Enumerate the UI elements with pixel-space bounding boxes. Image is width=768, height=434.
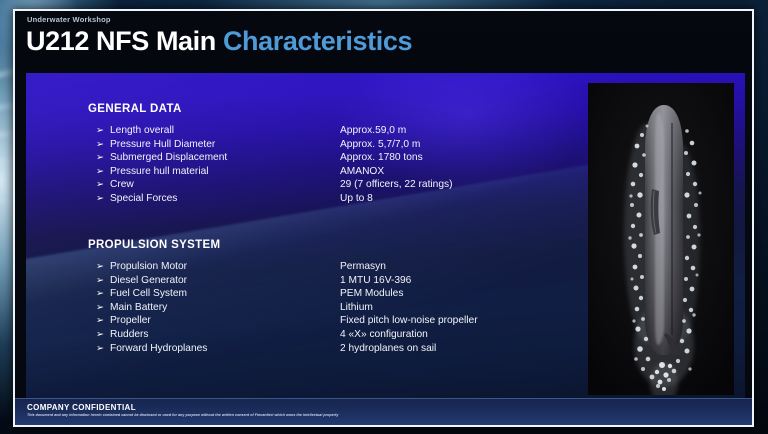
spec-value: Lithium bbox=[340, 301, 478, 315]
table-row: ➢ Pressure Hull Diameter Approx. 5,7/7,0… bbox=[88, 138, 453, 152]
spec-value: AMANOX bbox=[340, 165, 453, 179]
table-row: ➢ Diesel Generator 1 MTU 16V-396 bbox=[88, 274, 478, 288]
spec-label: Crew bbox=[110, 178, 340, 192]
table-row: ➢ Main Battery Lithium bbox=[88, 301, 478, 315]
table-row: ➢ Rudders 4 «X» configuration bbox=[88, 328, 478, 342]
spec-value: 29 (7 officers, 22 ratings) bbox=[340, 178, 453, 192]
spec-label: Propeller bbox=[110, 314, 340, 328]
spec-value: Approx. 1780 tons bbox=[340, 151, 453, 165]
spec-row-group: ➢ Propulsion Motor Permasyn ➢ Diesel Gen… bbox=[88, 260, 478, 355]
table-row: ➢ Length overall Approx.59,0 m bbox=[88, 124, 453, 138]
arrow-bullet-icon: ➢ bbox=[88, 138, 110, 152]
spec-label: Pressure Hull Diameter bbox=[110, 138, 340, 152]
table-row: ➢ Submerged Displacement Approx. 1780 to… bbox=[88, 151, 453, 165]
spec-label: Pressure hull material bbox=[110, 165, 340, 179]
arrow-bullet-icon: ➢ bbox=[88, 314, 110, 328]
section-heading: PROPULSION SYSTEM bbox=[88, 239, 478, 251]
title-accent-text: Characteristics bbox=[223, 26, 412, 56]
spec-label: Diesel Generator bbox=[110, 274, 340, 288]
section-general-data: GENERAL DATA ➢ Length overall Approx.59,… bbox=[88, 103, 453, 206]
title-main-text: U212 NFS Main bbox=[26, 26, 223, 56]
slide-footer: COMPANY CONFIDENTIAL This document and a… bbox=[15, 398, 752, 425]
arrow-bullet-icon: ➢ bbox=[88, 274, 110, 288]
spec-label: Main Battery bbox=[110, 301, 340, 315]
arrow-bullet-icon: ➢ bbox=[88, 124, 110, 138]
section-propulsion-system: PROPULSION SYSTEM ➢ Propulsion Motor Per… bbox=[88, 239, 478, 355]
arrow-bullet-icon: ➢ bbox=[88, 151, 110, 165]
spec-label: Forward Hydroplanes bbox=[110, 342, 340, 356]
spec-value: Up to 8 bbox=[340, 192, 453, 206]
spec-value: 1 MTU 16V-396 bbox=[340, 274, 478, 288]
arrow-bullet-icon: ➢ bbox=[88, 287, 110, 301]
table-row: ➢ Forward Hydroplanes 2 hydroplanes on s… bbox=[88, 342, 478, 356]
spec-label: Rudders bbox=[110, 328, 340, 342]
spec-value: 2 hydroplanes on sail bbox=[340, 342, 478, 356]
table-row: ➢ Fuel Cell System PEM Modules bbox=[88, 287, 478, 301]
spec-label: Submerged Displacement bbox=[110, 151, 340, 165]
spec-value: Approx. 5,7/7,0 m bbox=[340, 138, 453, 152]
arrow-bullet-icon: ➢ bbox=[88, 301, 110, 315]
table-row: ➢ Pressure hull material AMANOX bbox=[88, 165, 453, 179]
spec-value: 4 «X» configuration bbox=[340, 328, 478, 342]
spec-row-group: ➢ Length overall Approx.59,0 m ➢ Pressur… bbox=[88, 124, 453, 206]
spec-value: Fixed pitch low-noise propeller bbox=[340, 314, 478, 328]
specifications-content: GENERAL DATA ➢ Length overall Approx.59,… bbox=[26, 73, 586, 403]
arrow-bullet-icon: ➢ bbox=[88, 192, 110, 206]
arrow-bullet-icon: ➢ bbox=[88, 260, 110, 274]
table-row: ➢ Propeller Fixed pitch low-noise propel… bbox=[88, 314, 478, 328]
spec-value: Permasyn bbox=[340, 260, 478, 274]
submarine-photo bbox=[588, 83, 734, 395]
legal-disclaimer: This document and any information herein… bbox=[27, 413, 338, 417]
table-row: ➢ Special Forces Up to 8 bbox=[88, 192, 453, 206]
table-row: ➢ Crew 29 (7 officers, 22 ratings) bbox=[88, 178, 453, 192]
spec-value: PEM Modules bbox=[340, 287, 478, 301]
slide-header: Underwater Workshop U212 NFS Main Charac… bbox=[15, 11, 752, 73]
spec-label: Fuel Cell System bbox=[110, 287, 340, 301]
arrow-bullet-icon: ➢ bbox=[88, 328, 110, 342]
spec-value: Approx.59,0 m bbox=[340, 124, 453, 138]
arrow-bullet-icon: ➢ bbox=[88, 165, 110, 179]
confidentiality-label: COMPANY CONFIDENTIAL bbox=[27, 403, 136, 412]
page-title: U212 NFS Main Characteristics bbox=[26, 26, 412, 57]
section-heading: GENERAL DATA bbox=[88, 103, 453, 115]
arrow-bullet-icon: ➢ bbox=[88, 342, 110, 356]
arrow-bullet-icon: ➢ bbox=[88, 178, 110, 192]
table-row: ➢ Propulsion Motor Permasyn bbox=[88, 260, 478, 274]
slide-body-panel: GENERAL DATA ➢ Length overall Approx.59,… bbox=[26, 73, 745, 403]
presentation-slide: Underwater Workshop U212 NFS Main Charac… bbox=[13, 9, 754, 427]
spec-label: Length overall bbox=[110, 124, 340, 138]
spec-label: Propulsion Motor bbox=[110, 260, 340, 274]
eyebrow-label: Underwater Workshop bbox=[27, 15, 111, 24]
spec-label: Special Forces bbox=[110, 192, 340, 206]
